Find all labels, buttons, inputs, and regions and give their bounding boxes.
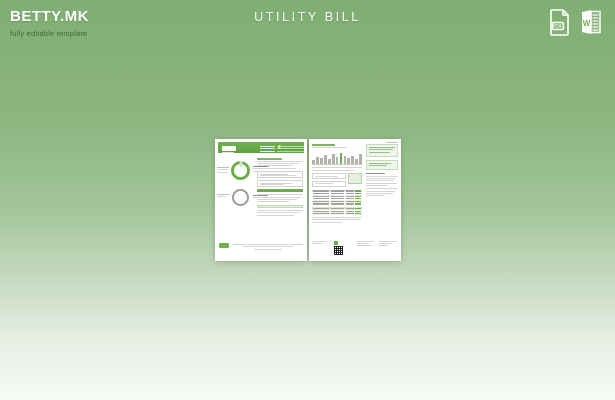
svg-text:W: W bbox=[583, 19, 591, 28]
taxes-table bbox=[312, 207, 362, 215]
info-panel-one bbox=[366, 144, 398, 157]
qr-code-icon bbox=[334, 246, 343, 255]
pdf-format-icon[interactable]: PDF bbox=[548, 8, 572, 36]
footer-item-one bbox=[312, 241, 331, 256]
info-panel-two bbox=[366, 160, 398, 171]
page-two-left-column bbox=[312, 144, 362, 225]
legal-block bbox=[366, 188, 398, 196]
page-one-header-band: € bbox=[218, 142, 304, 153]
footer-logo bbox=[219, 243, 229, 248]
preview-page-two[interactable] bbox=[309, 139, 401, 261]
footer-item-three bbox=[357, 241, 376, 256]
page-title: UTILITY BILL bbox=[0, 10, 615, 24]
preview-page-one[interactable]: € bbox=[215, 139, 307, 261]
page-two-disclaimer bbox=[312, 217, 362, 223]
donut-chart-secondary bbox=[232, 189, 249, 206]
page-two-reference bbox=[386, 142, 398, 143]
page-one-amount: € bbox=[278, 145, 281, 151]
secondary-heading-bar bbox=[257, 205, 303, 208]
recipient-block bbox=[257, 158, 303, 169]
notice-block bbox=[257, 194, 303, 202]
word-format-icon[interactable]: W bbox=[579, 8, 603, 36]
page-two-footer bbox=[312, 241, 398, 256]
usage-note bbox=[312, 167, 362, 170]
totals-row bbox=[312, 173, 362, 187]
usage-heading bbox=[312, 144, 362, 148]
donut-two-left-label bbox=[217, 194, 229, 199]
summary-box bbox=[257, 171, 303, 178]
donut-one-left-label bbox=[217, 167, 229, 174]
page-header: BETTY.MK fully editable template UTILITY… bbox=[0, 0, 615, 48]
donut-chart-primary bbox=[231, 161, 250, 180]
page-two-right-column bbox=[366, 144, 398, 199]
charges-table bbox=[312, 190, 362, 206]
section-heading-bar bbox=[257, 189, 303, 192]
svg-text:PDF: PDF bbox=[553, 24, 563, 30]
page-one-footer bbox=[219, 243, 303, 251]
page-one-header-fields bbox=[260, 146, 305, 154]
contact-block bbox=[366, 173, 398, 185]
page-one-logo-subtitle bbox=[222, 152, 234, 153]
brand-tagline: fully editable template bbox=[10, 29, 89, 39]
format-icons: PDF W bbox=[548, 8, 603, 36]
page-one-logo bbox=[222, 146, 236, 151]
reading-box bbox=[257, 180, 303, 187]
page-one-detail-column bbox=[257, 158, 303, 218]
amount-due-box bbox=[348, 173, 362, 184]
footer-item-four bbox=[379, 241, 398, 256]
footer-item-qr bbox=[334, 241, 353, 256]
terms-block bbox=[257, 210, 303, 216]
footer-text bbox=[233, 243, 303, 251]
document-preview[interactable]: € bbox=[215, 139, 401, 261]
usage-bar-chart bbox=[312, 150, 362, 165]
